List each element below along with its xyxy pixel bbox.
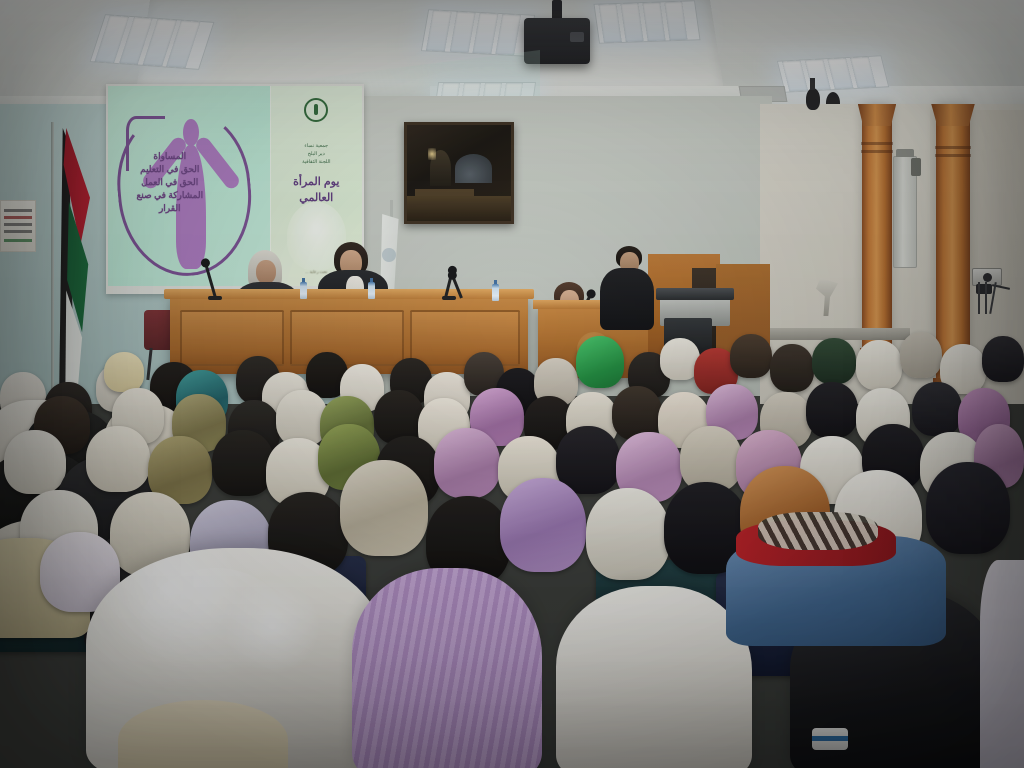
audience-head xyxy=(806,382,858,438)
slide-slogan-4: المشاركة في صنع القرار xyxy=(126,189,214,215)
artwork-light-glow xyxy=(428,148,436,160)
palestinian-flag xyxy=(46,128,90,390)
ceiling-light-6 xyxy=(777,55,890,93)
slide-org-1: جمعية نساء xyxy=(271,142,362,150)
audience-head xyxy=(434,428,500,498)
foreground-hijab-highlight xyxy=(140,568,290,688)
framed-artwork xyxy=(404,122,514,224)
foreground-right-edge-figure xyxy=(980,560,1024,768)
track-light-fixture xyxy=(806,88,820,110)
column-capital xyxy=(858,104,896,126)
organization-logo-icon xyxy=(304,98,328,122)
ceiling-light-4 xyxy=(593,0,700,44)
audience-head xyxy=(982,336,1024,382)
audience-head xyxy=(856,340,902,390)
column-ring xyxy=(861,150,893,153)
audience-head xyxy=(104,352,144,392)
ceiling-light-2 xyxy=(421,9,535,57)
foreground-patterned-scarf xyxy=(758,512,878,550)
microphone-base xyxy=(442,296,456,300)
foreground-wristband-stripe xyxy=(812,736,848,741)
slide-slogan-list: المساواة الحق في التعليم الحق في العمل ا… xyxy=(126,150,214,215)
water-bottle-3 xyxy=(492,284,499,301)
audience-head xyxy=(212,430,274,496)
column-capital xyxy=(931,104,975,126)
ceiling-light-1 xyxy=(89,14,214,70)
slide-slogan-2: الحق في التعليم xyxy=(126,163,214,176)
speaker-bracket xyxy=(911,158,921,176)
ceiling-projector xyxy=(524,18,590,64)
audience-head xyxy=(926,462,1010,554)
technician-body xyxy=(600,268,654,330)
video-camera-tripod xyxy=(968,268,1004,314)
foreground-lavender-hijab xyxy=(352,568,542,768)
audience-head xyxy=(576,336,624,388)
audience-head xyxy=(730,334,772,378)
audience-head xyxy=(500,478,586,572)
microphone-base xyxy=(208,296,222,300)
camera-lens-icon xyxy=(983,273,992,282)
tripod-leg xyxy=(985,282,987,314)
wall-notice-poster xyxy=(0,200,36,252)
conference-hall-photo: المساواة الحق في التعليم الحق في العمل ا… xyxy=(0,0,1024,768)
audience-head xyxy=(900,332,942,378)
water-bottle-1 xyxy=(300,282,307,299)
artwork-dome xyxy=(455,154,492,183)
artwork-foreground xyxy=(407,196,511,221)
slide-org-3: اللجنة الثقافية xyxy=(271,158,362,166)
column-ring xyxy=(935,154,972,157)
audience-head xyxy=(770,344,814,392)
audience-head xyxy=(912,382,962,436)
slide-slogan-3: الحق في العمل xyxy=(126,176,214,189)
slide-title-line-1: يوم المرأة xyxy=(271,174,362,190)
slide-slogan-1: المساواة xyxy=(126,150,214,163)
slide-organization-lines: جمعية نساء دير البلح اللجنة الثقافية xyxy=(271,142,362,166)
artwork-railing xyxy=(415,189,473,196)
panel-table-section xyxy=(290,310,404,366)
column-left xyxy=(862,104,892,364)
tripod-leg xyxy=(978,282,980,314)
panelist-left-face xyxy=(256,260,276,284)
slide-org-2: دير البلح xyxy=(271,150,362,158)
audience-head xyxy=(4,430,66,494)
audience-head xyxy=(340,460,428,556)
water-bottle-2 xyxy=(368,282,375,299)
column-ring xyxy=(861,142,893,145)
column-ring xyxy=(935,146,972,149)
technician xyxy=(600,246,654,330)
audience-head xyxy=(86,426,150,492)
audience-head xyxy=(586,488,670,580)
foreground-white-hijab xyxy=(556,586,752,768)
audience-head xyxy=(812,338,856,384)
panel-table-section xyxy=(410,310,520,366)
